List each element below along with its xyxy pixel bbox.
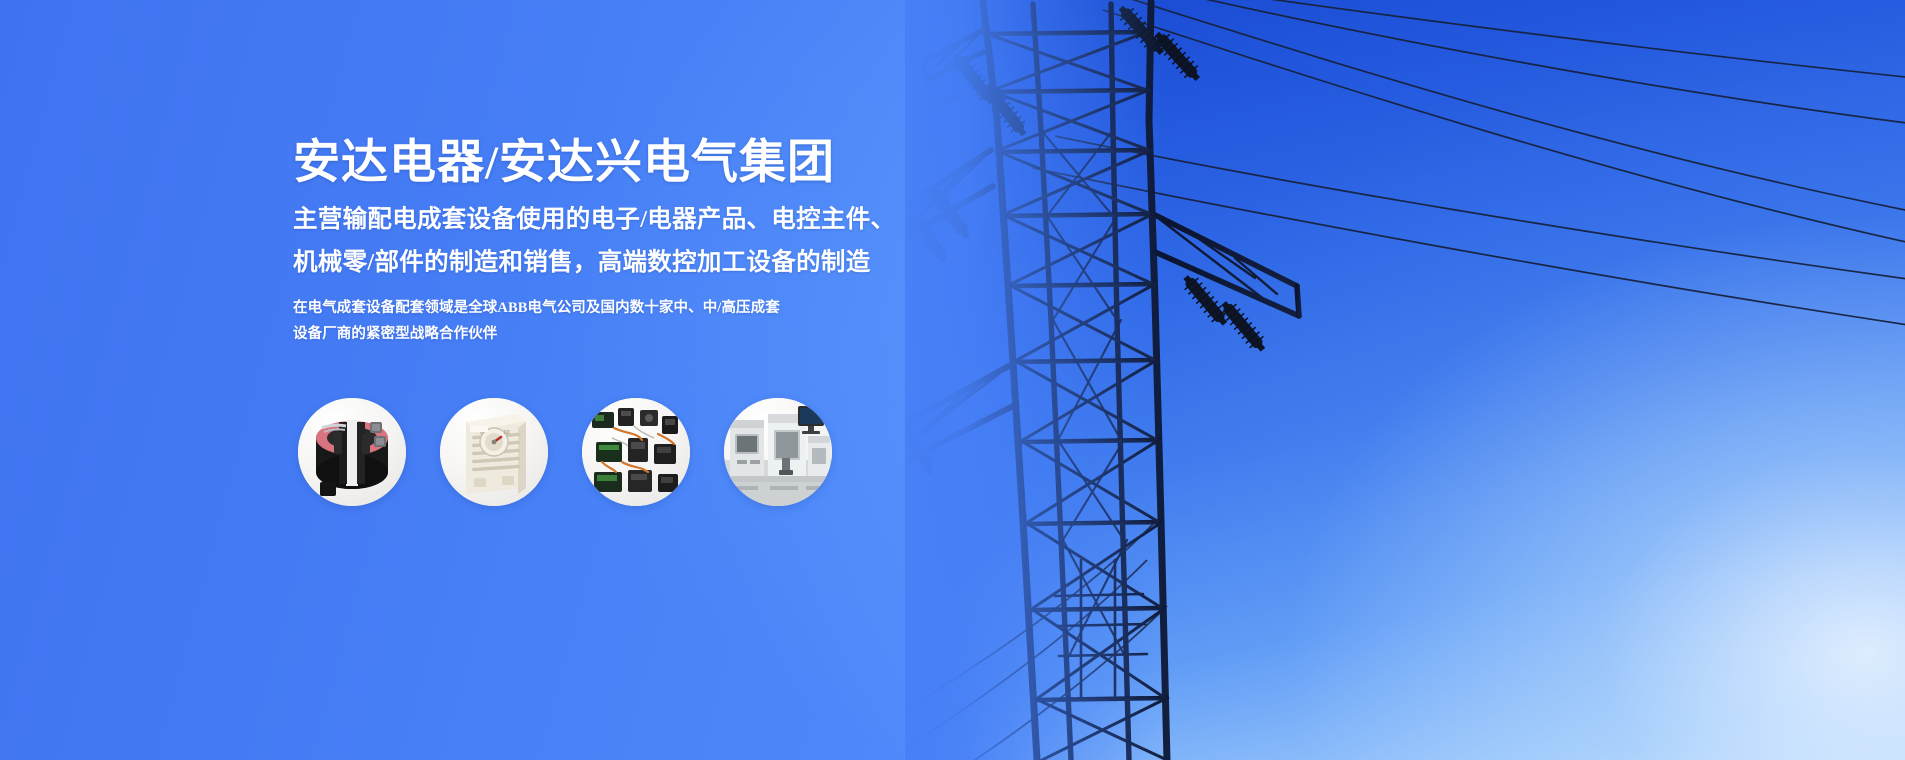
transmission-tower-photo [905, 0, 1905, 760]
product-thumb-electrical-components-set[interactable] [582, 398, 690, 506]
product-thumb-thermostat-unit[interactable]: 060 [440, 398, 548, 506]
banner-copy: 安达电器/安达兴电气集团 主营输配电成套设备使用的电子/电器产品、电控主件、 机… [293, 0, 893, 760]
description-line-1: 在电气成套设备配套领域是全球ABB电气公司及国内数十家中、中/高压成套 [293, 301, 780, 317]
hero-banner: 安达电器/安达兴电气集团 主营输配电成套设备使用的电子/电器产品、电控主件、 机… [0, 0, 1905, 760]
page-title: 安达电器/安达兴电气集团 [293, 138, 835, 189]
subtitle-line-2: 机械零/部件的制造和销售，高端数控加工设备的制造 [293, 250, 871, 275]
svg-text:60: 60 [504, 430, 510, 436]
product-thumb-current-transformer-coil[interactable] [298, 398, 406, 506]
product-thumb-cnc-machining-center[interactable] [724, 398, 832, 506]
description-line-2: 设备厂商的紧密型战略合作伙伴 [293, 327, 497, 343]
electrical-components-set-icon [582, 398, 690, 506]
product-thumbnail-row: 060 [298, 398, 832, 506]
subtitle-line-1: 主营输配电成套设备使用的电子/电器产品、电控主件、 [293, 207, 895, 232]
cnc-machining-center-icon [724, 398, 832, 506]
thermostat-unit-icon: 060 [440, 398, 548, 506]
current-transformer-coil-icon [298, 398, 406, 506]
photo-left-fade [905, 0, 1165, 760]
